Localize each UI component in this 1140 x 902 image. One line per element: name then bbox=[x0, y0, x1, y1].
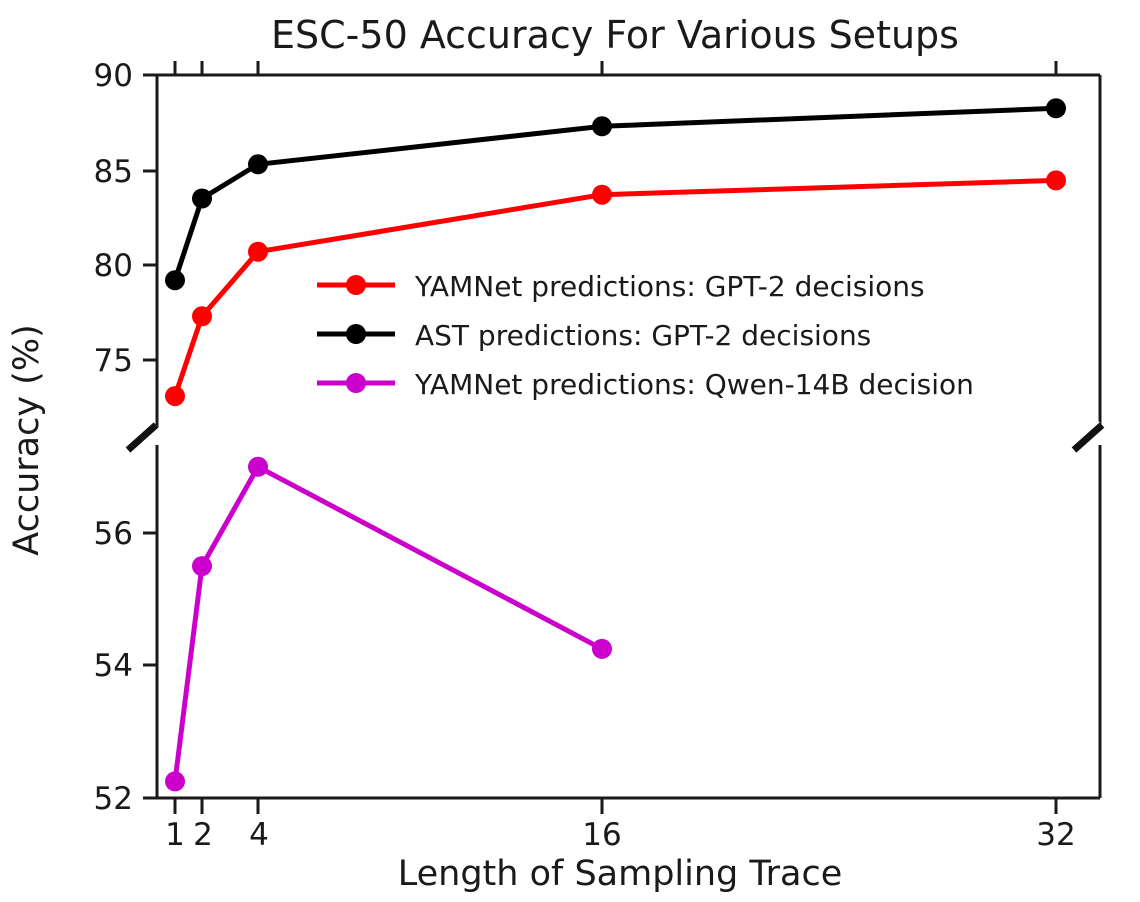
axis-break-marker-left bbox=[128, 425, 156, 450]
legend-swatch-marker-black bbox=[346, 324, 366, 344]
y-tick-label-85: 85 bbox=[94, 154, 133, 190]
top-panel-x-ticks bbox=[175, 61, 1056, 75]
y-tick-label-90: 90 bbox=[94, 58, 133, 94]
y-tick-label-52: 52 bbox=[94, 781, 133, 817]
top-panel-y-ticks bbox=[143, 75, 157, 360]
accuracy-line-chart: ESC-50 Accuracy For Various Setups Accur… bbox=[0, 0, 1140, 902]
legend-label-ast-gpt2: AST predictions: GPT-2 decisions bbox=[415, 319, 871, 352]
y-tick-label-75: 75 bbox=[94, 343, 133, 379]
x-axis-label: Length of Sampling Trace bbox=[398, 854, 843, 894]
bottom-panel-x-ticks bbox=[175, 798, 1056, 814]
legend-entry-yamnet-qwen14b: YAMNet predictions: Qwen-14B decision bbox=[317, 368, 974, 401]
x-tick-label-2: 2 bbox=[193, 817, 213, 853]
legend-swatch-marker-red bbox=[346, 275, 366, 295]
x-tick-label-32: 32 bbox=[1036, 817, 1075, 853]
x-tick-label-4: 4 bbox=[249, 817, 269, 853]
y-tick-label-80: 80 bbox=[94, 248, 133, 284]
bottom-panel-y-ticks bbox=[143, 533, 157, 798]
axis-break-marker-right bbox=[1074, 425, 1102, 450]
y-tick-label-56: 56 bbox=[94, 516, 133, 552]
x-tick-label-16: 16 bbox=[582, 817, 621, 853]
bottom-panel: 56 54 52 1 2 4 16 32 bbox=[94, 445, 1100, 853]
chart-title: ESC-50 Accuracy For Various Setups bbox=[271, 13, 959, 57]
x-tick-label-1: 1 bbox=[165, 817, 185, 853]
legend-entry-ast-gpt2: AST predictions: GPT-2 decisions bbox=[317, 319, 871, 352]
y-tick-label-54: 54 bbox=[94, 648, 133, 684]
series-markers-yamnet-qwen14b bbox=[165, 457, 612, 792]
legend-label-yamnet-gpt2: YAMNet predictions: GPT-2 decisions bbox=[414, 270, 925, 303]
legend-entry-yamnet-gpt2: YAMNet predictions: GPT-2 decisions bbox=[317, 270, 925, 303]
series-line-yamnet-qwen14b bbox=[175, 467, 602, 782]
figure-canvas: ESC-50 Accuracy For Various Setups Accur… bbox=[0, 0, 1140, 902]
legend-label-yamnet-qwen14b: YAMNet predictions: Qwen-14B decision bbox=[414, 368, 974, 401]
y-axis-label: Accuracy (%) bbox=[7, 324, 47, 555]
chart-legend: YAMNet predictions: GPT-2 decisions AST … bbox=[317, 270, 974, 401]
legend-swatch-marker-magenta bbox=[346, 373, 366, 393]
